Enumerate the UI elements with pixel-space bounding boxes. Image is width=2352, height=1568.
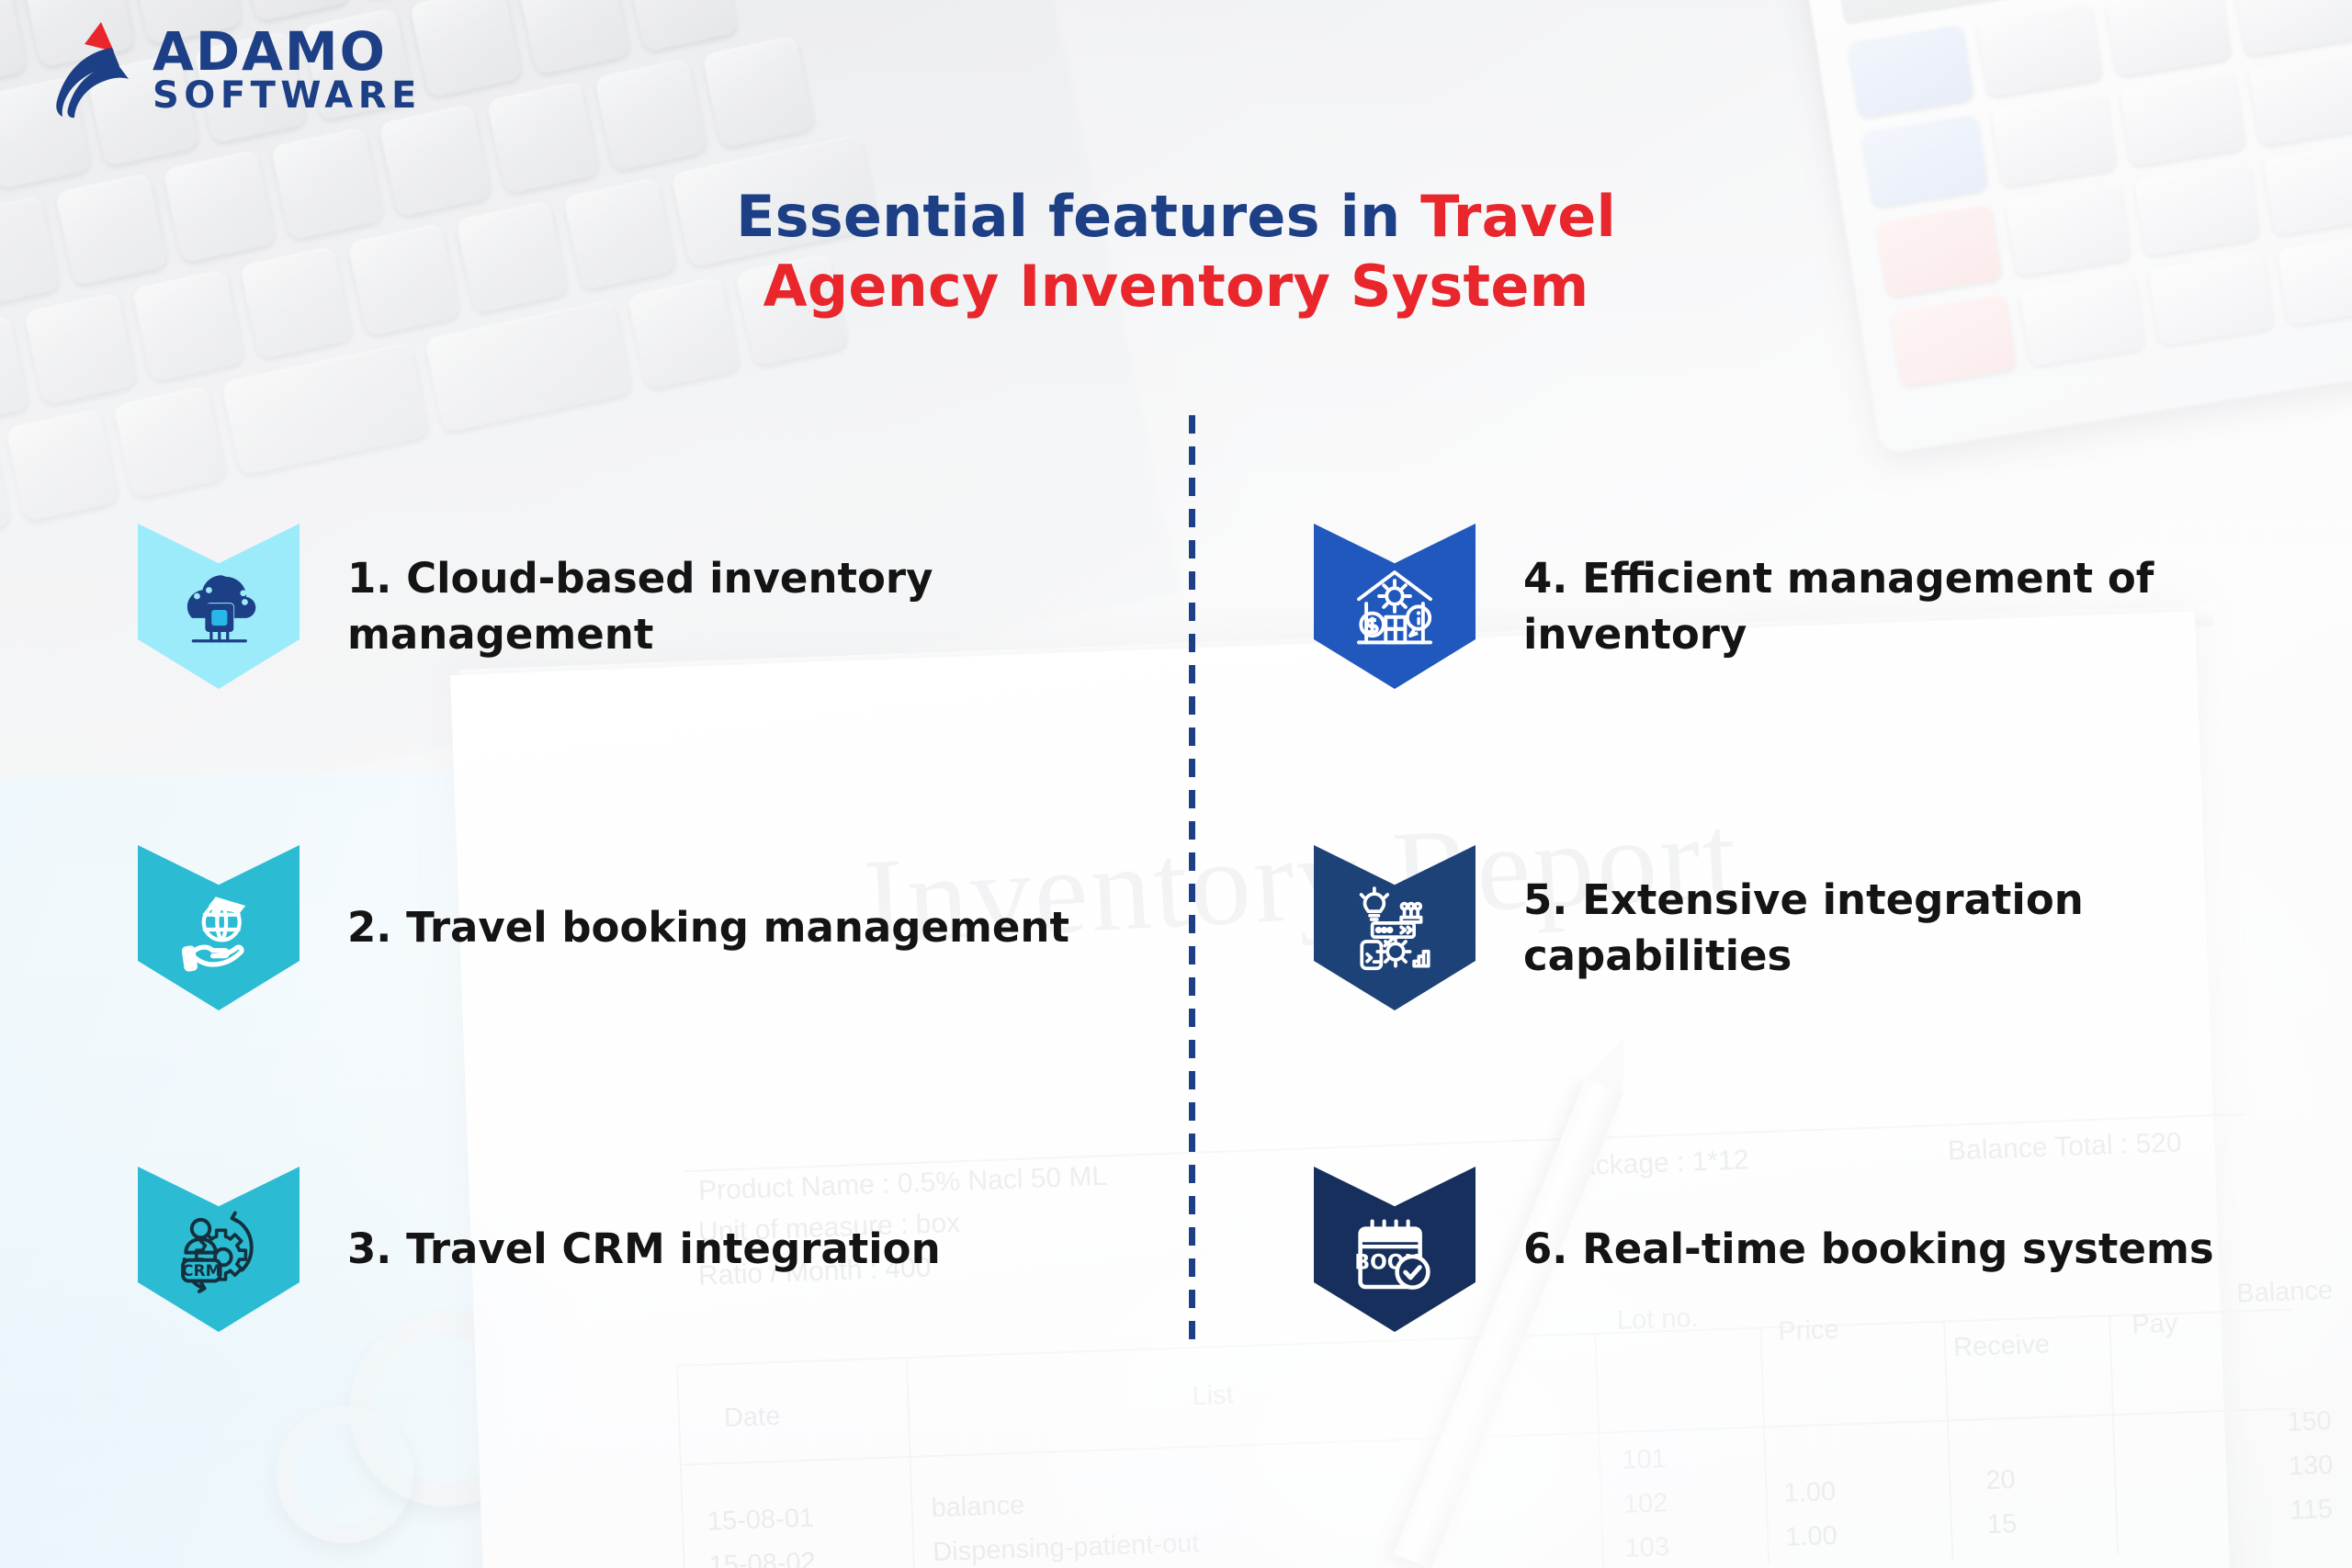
logo-text-adamo: ADAMO	[153, 27, 422, 78]
feature-label-1: 1. Cloud-based inventory management	[347, 550, 1174, 662]
feature-label-2: 2. Travel booking management	[347, 899, 1069, 955]
feature-badge-2	[138, 845, 300, 1010]
feature-badge-3: CRM	[138, 1167, 300, 1332]
title-line-1: Essential features in Travel	[0, 182, 2352, 252]
title-line-2: Agency Inventory System	[0, 252, 2352, 321]
hand-holding-globe-airplane-icon	[171, 882, 266, 977]
feature-item-6[interactable]: BOOK 6. Real-time booking systems	[1314, 1139, 2352, 1359]
feature-item-1[interactable]: 1. Cloud-based inventory management	[138, 496, 1176, 716]
adamo-software-logo[interactable]: ADAMO SOFTWARE	[48, 20, 422, 119]
feature-item-5[interactable]: 5. Extensive integration capabilities	[1314, 818, 2352, 1038]
feature-column-right: 4. Efficient management of inventory	[1314, 496, 2352, 1359]
feature-item-3[interactable]: CRM 3. Travel CRM integration	[138, 1139, 1176, 1359]
feature-column-left: 1. Cloud-based inventory management	[138, 496, 1176, 1359]
title-line-2-red: Agency Inventory System	[763, 253, 1589, 320]
feature-label-4: 4. Efficient management of inventory	[1523, 550, 2350, 662]
vertical-dashed-divider	[1189, 415, 1195, 1343]
calendar-book-check-icon: BOOK	[1347, 1203, 1442, 1299]
page-title: Essential features in Travel Agency Inve…	[0, 182, 2352, 321]
title-line-1-red: Travel	[1420, 183, 1616, 250]
api-integration-icon	[1347, 882, 1442, 977]
crm-user-gear-icon: CRM	[171, 1203, 266, 1299]
svg-text:CRM: CRM	[182, 1262, 221, 1280]
logo-text-software: SOFTWARE	[153, 78, 422, 113]
feature-badge-5	[1314, 845, 1476, 1010]
cloud-computing-icon	[171, 560, 266, 656]
feature-badge-6: BOOK	[1314, 1167, 1476, 1332]
feature-badge-1	[138, 524, 300, 689]
feature-item-2[interactable]: 2. Travel booking management	[138, 818, 1176, 1038]
feature-badge-4	[1314, 524, 1476, 689]
feature-label-6: 6. Real-time booking systems	[1523, 1221, 2214, 1277]
title-line-1-blue: Essential features in	[736, 183, 1420, 250]
warehouse-gear-inventory-icon	[1347, 560, 1442, 656]
feature-label-3: 3. Travel CRM integration	[347, 1221, 941, 1277]
adamo-swoosh-logo-mark	[48, 20, 132, 119]
feature-item-4[interactable]: 4. Efficient management of inventory	[1314, 496, 2352, 716]
feature-label-5: 5. Extensive integration capabilities	[1523, 872, 2350, 984]
